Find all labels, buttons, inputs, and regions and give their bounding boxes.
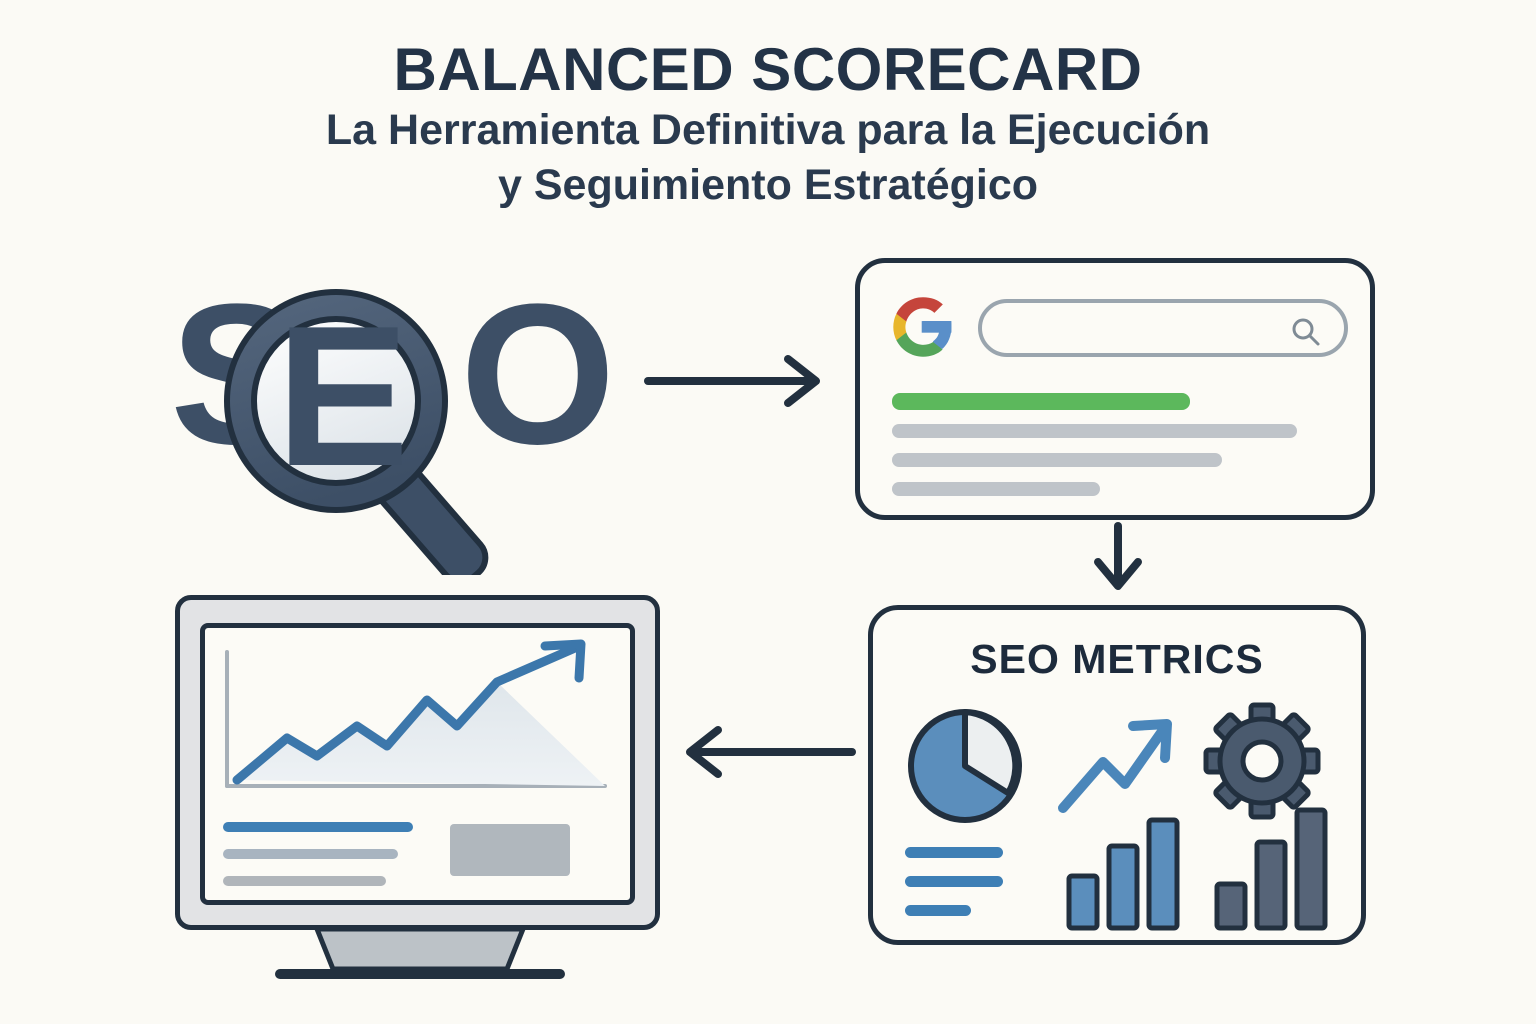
google-logo-icon <box>892 296 954 358</box>
search-icon[interactable] <box>1290 316 1322 348</box>
result-bar-1 <box>892 424 1297 438</box>
seo-letter-o: O <box>460 275 616 486</box>
metric-line-1 <box>905 847 1003 858</box>
dashboard-line-1 <box>223 822 413 832</box>
subtitle-line-2: y Seguimiento Estratégico <box>0 156 1536 211</box>
infographic-canvas: BALANCED SCORECARD La Herramienta Defini… <box>0 0 1536 1024</box>
page-title: BALANCED SCORECARD <box>0 38 1536 101</box>
metric-line-3 <box>905 905 971 916</box>
growth-area-chart <box>205 634 630 814</box>
arrow-left-icon <box>680 720 860 784</box>
trending-up-arrow-icon <box>1055 710 1185 820</box>
dashboard-tile <box>450 824 570 876</box>
bar-chart-dark-icon <box>1213 800 1331 932</box>
subtitle-line-1: La Herramienta Definitiva para la Ejecuc… <box>0 101 1536 156</box>
monitor-stand <box>275 925 565 987</box>
metrics-panel-title: SEO METRICS <box>873 636 1361 683</box>
title-block: BALANCED SCORECARD La Herramienta Defini… <box>0 38 1536 210</box>
bar-chart-blue-icon <box>1065 806 1183 932</box>
seo-letter-e: E <box>276 285 409 508</box>
monitor-bezel <box>175 595 660 930</box>
result-bar-3 <box>892 482 1100 496</box>
monitor-screen <box>200 623 635 905</box>
dashboard-line-2 <box>223 849 398 859</box>
result-bar-top <box>892 393 1190 410</box>
seo-metrics-panel: SEO METRICS <box>868 605 1366 945</box>
metric-line-2 <box>905 876 1003 887</box>
search-input[interactable] <box>978 299 1348 357</box>
pie-chart-icon <box>905 706 1025 826</box>
result-bar-2 <box>892 453 1222 467</box>
dashboard-line-3 <box>223 876 386 886</box>
arrow-right-icon <box>640 350 835 412</box>
arrow-down-icon <box>1080 520 1156 600</box>
dashboard-monitor <box>175 595 660 985</box>
seo-wordmark-logo: S O E <box>160 275 640 575</box>
search-results-panel <box>855 258 1375 520</box>
